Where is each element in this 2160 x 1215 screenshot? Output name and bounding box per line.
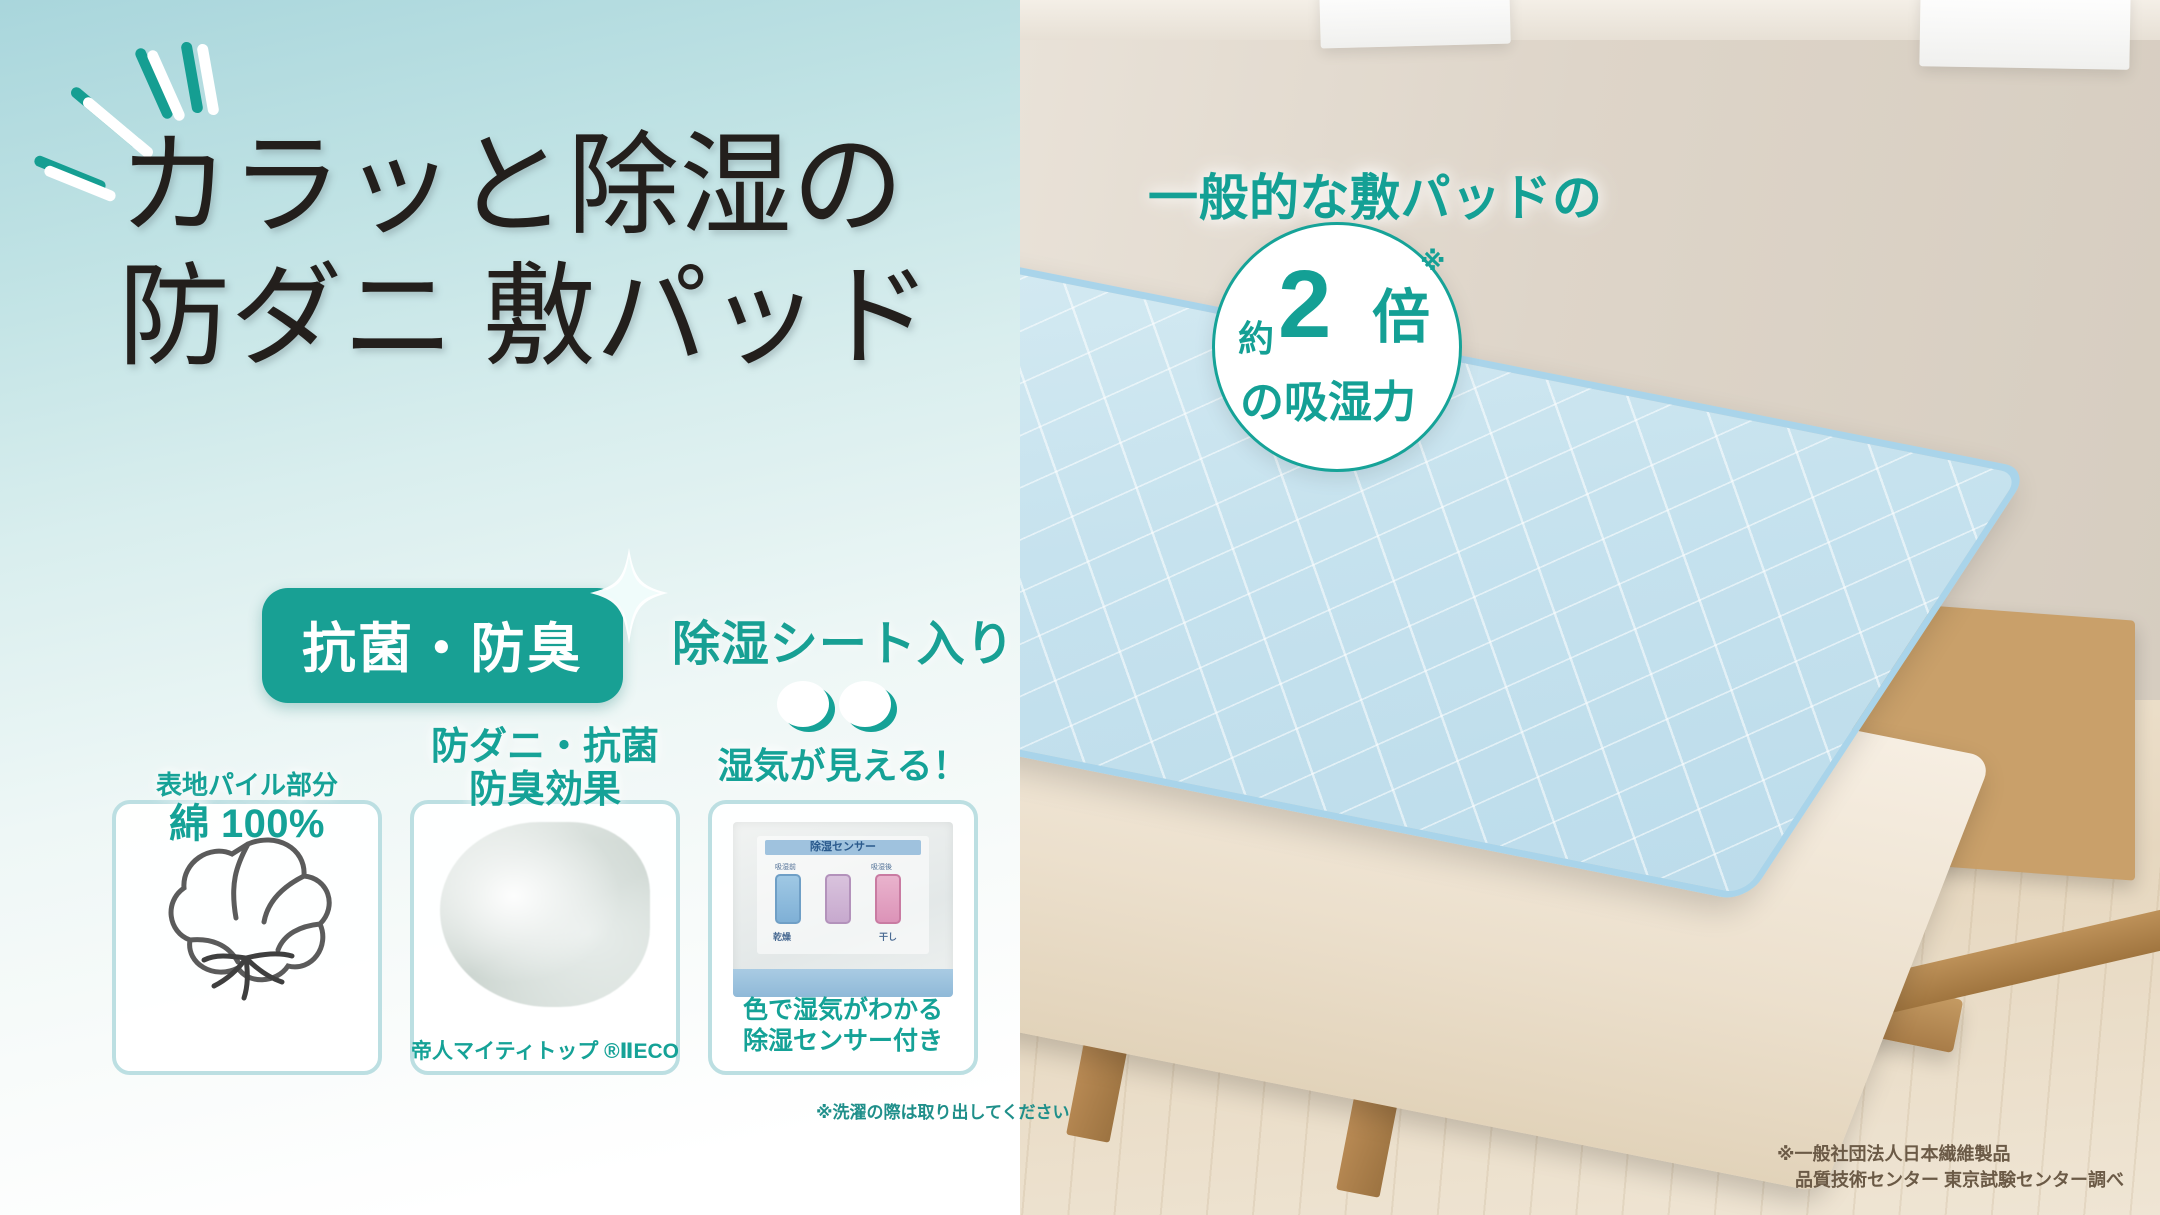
eye-right-icon [845,686,897,732]
badge-bottom-label: の吸湿力 [1240,366,1416,430]
headline-line-2: 防ダニ 敷パッド [118,259,1018,378]
card-title-small: 表地パイル部分 [156,770,338,800]
headline-line-1: カラッと除湿の [118,128,1018,247]
dehumidifying-sheet-label: 除湿シート入り [672,604,1015,674]
window-blind [1319,0,1511,48]
sensor-left-label: 吸湿前 [775,862,796,872]
badge-multiplier-unit: 倍 [1372,270,1430,354]
source-footnote: ※一般社団法人日本繊維製品 品質技術センター 東京試験センター調べ [1777,1141,2124,1193]
fiber-photo [440,822,650,1007]
card-foot-antimite: 帝人マイティトップ ®ⅡECO [400,1039,690,1065]
feature-cards: 表地パイル部分 綿 100% [112,800,978,1075]
cotton-boll-icon [152,822,342,1002]
window-blind [1919,0,2130,70]
ad-banner: カラッと除湿の 防ダニ 敷パッド 抗菌・防臭 除湿シート入り 一般的な敷パッドの… [0,0,2160,1215]
feature-card-sensor: 湿気が見える！ 除湿センサー 吸湿前 吸湿後 乾燥 干し 色で湿気がわかる 除湿… [708,800,978,1075]
feature-card-cotton: 表地パイル部分 綿 100% [112,800,382,1075]
sensor-fabric-band [733,969,953,997]
eyes-icon [783,686,903,732]
badge-asterisk: ※ [1420,246,1445,277]
card-title-sensor: 湿気が見える！ [678,746,1008,786]
sensor-bottom-right-label: 干し [879,930,897,943]
card-title-antimite: 防ダニ・抗菌 防臭効果 [380,726,710,811]
badge-approx-label: 約 [1238,310,1274,362]
sensor-bottom-left-label: 乾燥 [773,930,791,943]
antibacterial-deodorant-pill: 抗菌・防臭 [262,588,623,703]
sensor-header-label: 除湿センサー [765,840,921,855]
eye-left-icon [783,686,835,732]
headline: カラッと除湿の 防ダニ 敷パッド [118,128,1018,377]
badge-multiplier-number: 2 [1278,250,1329,360]
card-foot-sensor: 色で湿気がわかる 除湿センサー付き [698,995,988,1058]
sensor-chip-pink [875,874,901,924]
sensor-right-label: 吸湿後 [871,862,892,872]
badge-caption: 一般的な敷パッドの [1148,158,1603,230]
sensor-washing-note: ※洗濯の際は取り出してください [816,1098,1070,1123]
humidity-sensor-photo: 除湿センサー 吸湿前 吸湿後 乾燥 干し [733,822,953,997]
sensor-chip-blue [775,874,801,924]
feature-card-antimite: 防ダニ・抗菌 防臭効果 帝人マイティトップ ®ⅡECO [410,800,680,1075]
sensor-chip-middle [825,874,851,924]
